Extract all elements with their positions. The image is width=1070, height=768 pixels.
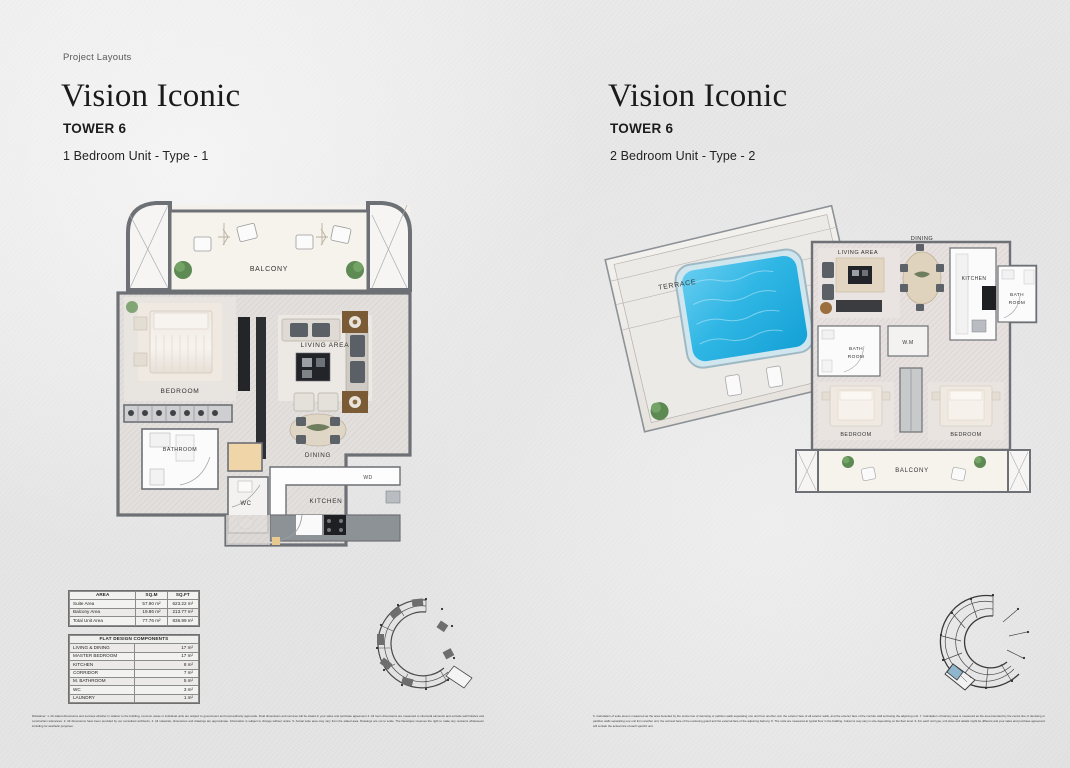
table-row: CORRIDOR 7 m²: [70, 669, 199, 677]
components-table-left: FLAT DESIGN COMPONENTS LIVING & DINING 1…: [68, 634, 200, 704]
key-plan-left: [368, 592, 480, 699]
bathroom-zone-right-a: BATH ROOM: [998, 266, 1036, 322]
page-title-right: Vision Iconic: [608, 78, 787, 115]
room-label-living-area-right: LIVING AREA: [838, 250, 878, 256]
room-label-balcony-right: BALCONY: [895, 468, 929, 474]
disclaimer-right: 6. Calculation of suite area is measured…: [593, 714, 1045, 729]
tower-label-left: TOWER 6: [63, 121, 126, 136]
room-label-kitchen-right: KITCHEN: [962, 276, 987, 282]
area-table-header: SQ.FT: [167, 592, 198, 600]
room-label-living-area: LIVING AREA: [301, 342, 350, 349]
room-label-bathroom-right-a2: ROOM: [1009, 300, 1026, 306]
washing-machine-zone: W.M: [888, 326, 928, 356]
room-label-bathroom-right-b2: ROOM: [848, 354, 865, 360]
disclaimer-left: Disclaimer: 1. All stated dimensions and…: [32, 714, 484, 729]
bathroom-zone: BATHROOM: [142, 429, 218, 489]
room-label-dining: DINING: [305, 452, 331, 459]
kicker-label: Project Layouts: [63, 52, 131, 63]
balcony-zone-right: BALCONY: [796, 450, 1030, 492]
room-label-bathroom-right-b: BATH: [849, 346, 863, 352]
panel-left: Project Layouts Vision Iconic TOWER 6 1 …: [0, 0, 535, 768]
table-row: Suite Area 57.90 m² 623.22 m²: [70, 600, 199, 608]
table-row: KITCHEN 8 m²: [70, 661, 199, 669]
balcony-zone: BALCONY: [128, 203, 410, 293]
unit-type-label-right: 2 Bedroom Unit - Type - 2: [610, 149, 755, 163]
table-row: Balcony Area 19.86 m² 213.77 m²: [70, 608, 199, 616]
panel-right: Vision Iconic TOWER 6 2 Bedroom Unit - T…: [535, 0, 1070, 768]
components-table-caption: FLAT DESIGN COMPONENTS: [70, 636, 199, 644]
table-row: LIVING & DINING 17 m²: [70, 644, 199, 652]
bathroom-zone-right-b: BATH ROOM: [818, 326, 880, 376]
room-label-bedroom: BEDROOM: [161, 388, 200, 395]
laundry-zone: [228, 443, 262, 471]
room-label-bathroom-right-a: BATH: [1010, 292, 1024, 298]
table-row: MASTER BEDROOM 17 m²: [70, 652, 199, 660]
living-area-zone-right: LIVING AREA: [818, 248, 900, 318]
table-row: Total Unit Area 77.76 m² 836.99 m²: [70, 617, 199, 625]
page-title-left: Vision Iconic: [61, 78, 240, 115]
room-label-balcony: BALCONY: [250, 266, 288, 273]
floorplan-2-bedroom: TERRACE L: [600, 200, 1060, 510]
area-table-header: AREA: [70, 592, 136, 600]
brochure-page: Project Layouts Vision Iconic TOWER 6 1 …: [0, 0, 1070, 768]
area-table-header: SQ.M: [136, 592, 167, 600]
kitchen-zone-right: KITCHEN: [950, 248, 996, 340]
room-label-dining-right: DINING: [911, 236, 934, 242]
label-washer-dryer: WD: [363, 475, 372, 481]
unit-type-label-left: 1 Bedroom Unit - Type - 1: [63, 149, 208, 163]
table-row: LAUNDRY 1 m²: [70, 694, 199, 702]
area-table-left: AREA SQ.M SQ.FT Suite Area 57.90 m² 623.…: [68, 590, 200, 627]
unit-body: BEDROOM: [118, 293, 410, 545]
room-label-wm: W.M: [902, 340, 913, 346]
key-plan-right: [931, 588, 1043, 697]
room-label-wc: WC: [240, 501, 251, 507]
bedroom-zone-right-2: BEDROOM: [928, 382, 1004, 440]
bedroom-zone-right-1: BEDROOM: [818, 382, 894, 440]
unit-body-right: LIVING AREA: [812, 236, 1036, 450]
room-label-bathroom: BATHROOM: [163, 447, 197, 453]
floorplan-1-bedroom: BALCONY: [110, 185, 430, 585]
tower-label-right: TOWER 6: [610, 121, 673, 136]
room-label-bedroom-right-1: BEDROOM: [840, 432, 871, 438]
room-label-kitchen: KITCHEN: [310, 498, 343, 505]
room-label-bedroom-right-2: BEDROOM: [950, 432, 981, 438]
living-area-zone: LIVING AREA: [278, 311, 372, 413]
table-row: WC 3 m²: [70, 686, 199, 694]
table-row: M. BATHROOM 5 m²: [70, 677, 199, 685]
